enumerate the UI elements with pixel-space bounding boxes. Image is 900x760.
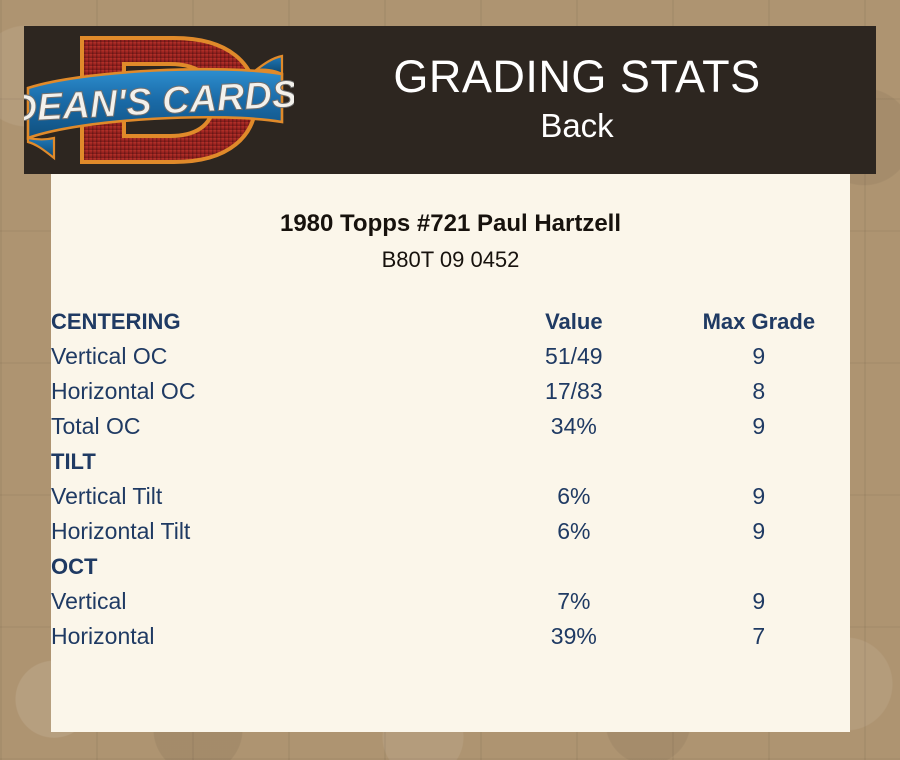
page-subtitle: Back — [294, 105, 860, 146]
stat-max-grade: 7 — [668, 619, 850, 654]
column-header-value: Value — [480, 304, 668, 339]
stat-value: 7% — [480, 584, 668, 619]
grading-stats-table: CENTERINGValueMax GradeVertical OC51/499… — [51, 304, 850, 654]
deans-cards-logo: DEAN'S CARDS — [24, 26, 294, 174]
stat-value: 6% — [480, 514, 668, 549]
section-header-row: TILT — [51, 444, 850, 479]
stat-label: Horizontal — [51, 619, 480, 654]
column-header-value — [480, 549, 668, 584]
column-header-max-grade — [668, 444, 850, 479]
column-header-max-grade — [668, 549, 850, 584]
table-row: Vertical7%9 — [51, 584, 850, 619]
stat-value: 51/49 — [480, 339, 668, 374]
section-header-row: CENTERINGValueMax Grade — [51, 304, 850, 339]
stat-value: 34% — [480, 409, 668, 444]
table-row: Horizontal Tilt6%9 — [51, 514, 850, 549]
table-row: Vertical OC51/499 — [51, 339, 850, 374]
header-bar: DEAN'S CARDS GRADING STATS Back — [24, 26, 876, 174]
card-serial-number: B80T 09 0452 — [51, 247, 850, 273]
table-row: Total OC34%9 — [51, 409, 850, 444]
stat-value: 39% — [480, 619, 668, 654]
stat-label: Vertical Tilt — [51, 479, 480, 514]
stat-label: Total OC — [51, 409, 480, 444]
section-title: TILT — [51, 444, 480, 479]
column-header-max-grade: Max Grade — [668, 304, 850, 339]
stat-label: Horizontal OC — [51, 374, 480, 409]
stat-max-grade: 9 — [668, 584, 850, 619]
column-header-value — [480, 444, 668, 479]
page-title: GRADING STATS — [294, 54, 860, 99]
section-header-row: OCT — [51, 549, 850, 584]
stat-max-grade: 9 — [668, 479, 850, 514]
table-row: Vertical Tilt6%9 — [51, 479, 850, 514]
stat-max-grade: 9 — [668, 514, 850, 549]
section-title: CENTERING — [51, 304, 480, 339]
stat-label: Vertical OC — [51, 339, 480, 374]
stat-value: 17/83 — [480, 374, 668, 409]
stat-max-grade: 9 — [668, 339, 850, 374]
stat-max-grade: 8 — [668, 374, 850, 409]
header-titles: GRADING STATS Back — [294, 54, 876, 146]
stat-label: Horizontal Tilt — [51, 514, 480, 549]
section-title: OCT — [51, 549, 480, 584]
stat-max-grade: 9 — [668, 409, 850, 444]
content-panel: 1980 Topps #721 Paul Hartzell B80T 09 04… — [51, 174, 850, 732]
card-title: 1980 Topps #721 Paul Hartzell — [51, 210, 850, 238]
table-row: Horizontal39%7 — [51, 619, 850, 654]
stat-value: 6% — [480, 479, 668, 514]
stat-label: Vertical — [51, 584, 480, 619]
table-row: Horizontal OC17/838 — [51, 374, 850, 409]
